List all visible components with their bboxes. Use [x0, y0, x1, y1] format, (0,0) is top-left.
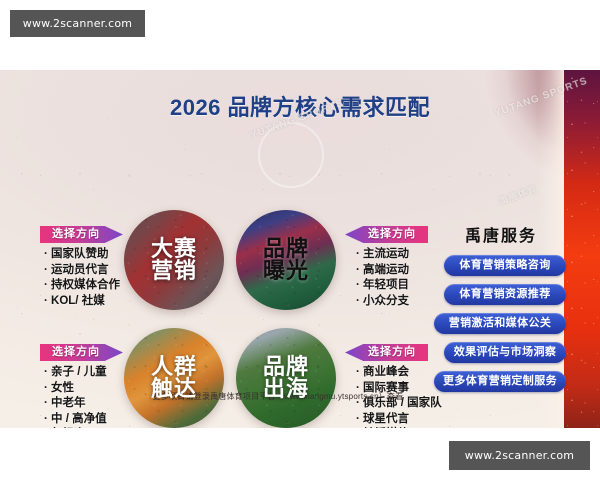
direction-tag-brand-exposure: 选择方向 [345, 226, 428, 243]
direction-tag-audience-reach: 选择方向 [40, 344, 123, 361]
watermark-top: www.2scanner.com [10, 10, 145, 37]
circle-label: 品牌 出海 [263, 356, 309, 401]
list-item: 球星代言 [356, 412, 442, 428]
list-item: 亲子 / 儿童 [44, 365, 107, 381]
page-title: 2026 品牌方核心需求匹配 [0, 90, 600, 122]
circle-label-line2: 出海 [263, 378, 309, 400]
circle-label-line1: 品牌 [263, 238, 309, 260]
circle-label-line1: 大赛 [151, 238, 197, 260]
list-item: 主流运动 [356, 247, 409, 263]
list-item: 年轻项目 [356, 278, 409, 294]
right-red-gradient-strip [564, 70, 600, 428]
circle-label: 品牌 曝光 [263, 238, 309, 283]
list-item: 中 / 高净值 [44, 412, 107, 428]
watermark-top-text: www.2scanner.com [23, 17, 132, 30]
list-item: KOL/ 社媒 [44, 294, 120, 310]
list-item: 国家队赞助 [44, 247, 120, 263]
circle-label: 大赛 营销 [151, 238, 197, 283]
services-title: 禹唐服务 [446, 222, 556, 246]
circle-label-line1: 品牌 [263, 356, 309, 378]
watermark-bottom-text: www.2scanner.com [465, 449, 574, 462]
circle-label-line2: 曝光 [263, 260, 309, 282]
circle-label-line2: 触达 [151, 378, 197, 400]
direction-tag-competition-marketing: 选择方向 [40, 226, 123, 243]
direction-tag-brand-going-global: 选择方向 [345, 344, 428, 361]
list-item: 高端运动 [356, 263, 409, 279]
circle-brand-going-global[interactable]: 品牌 出海 [236, 328, 336, 428]
brand-ghost-watermark-c: 禹唐体育 [497, 182, 539, 208]
direction-list-brand-exposure: 主流运动 高端运动 年轻项目 小众分支 [356, 247, 409, 309]
watermark-bottom: www.2scanner.com [449, 441, 590, 470]
services-list: 体育营销策略咨询 体育营销资源推荐 营销激活和媒体公关 效果评估与市场洞察 更多… [444, 255, 566, 400]
service-pill-strategy-consulting[interactable]: 体育营销策略咨询 [444, 255, 566, 276]
list-item: 年轻人 [44, 427, 107, 428]
brand-ghost-ring-icon [258, 122, 324, 188]
service-pill-custom-services[interactable]: 更多体育营销定制服务 [434, 371, 566, 392]
service-pill-resource-recommendation[interactable]: 体育营销资源推荐 [444, 284, 566, 305]
list-item: 持权媒体合作 [44, 278, 120, 294]
poster-image: 2026 品牌方核心需求匹配 YUTANG SPORTS YUTANG SPOR… [0, 70, 600, 428]
service-pill-evaluation-insight[interactable]: 效果评估与市场洞察 [444, 342, 566, 363]
circle-label-line2: 营销 [151, 260, 197, 282]
list-item: 运动员代言 [44, 263, 120, 279]
circle-competition-marketing[interactable]: 大赛 营销 [124, 210, 224, 310]
circle-audience-reach[interactable]: 人群 触达 [124, 328, 224, 428]
circle-label: 人群 触达 [151, 356, 197, 401]
list-item: 商业峰会 [356, 365, 442, 381]
service-pill-activation-pr[interactable]: 营销激活和媒体公关 [434, 313, 566, 334]
circle-brand-exposure[interactable]: 品牌 曝光 [236, 210, 336, 310]
list-item: 小众分支 [356, 294, 409, 310]
list-item: 转播媒体 [356, 427, 442, 428]
direction-list-competition-marketing: 国家队赞助 运动员代言 持权媒体合作 KOL/ 社媒 [44, 247, 120, 309]
circle-label-line1: 人群 [151, 356, 197, 378]
